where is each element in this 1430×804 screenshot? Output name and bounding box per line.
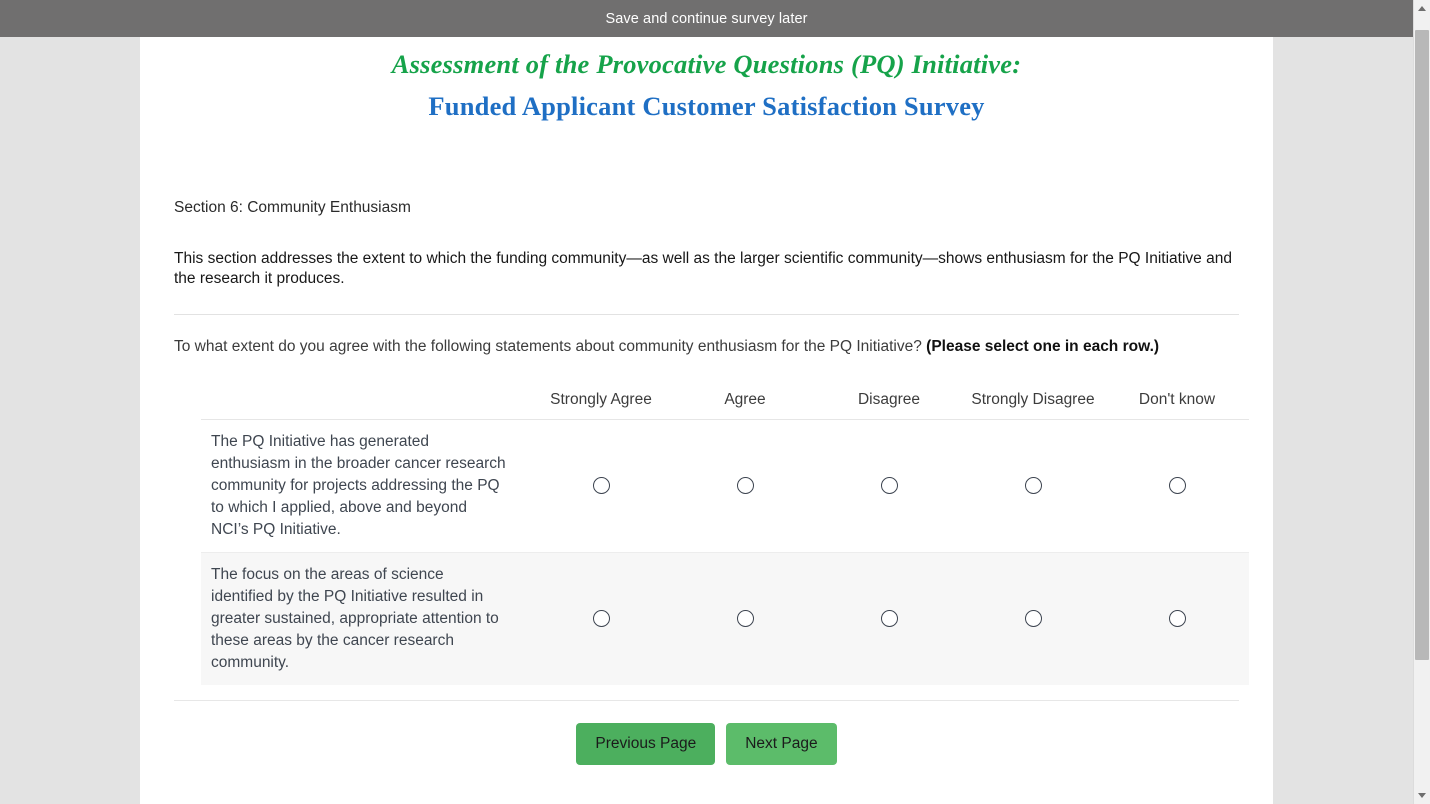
radio-row1-strongly-disagree[interactable] [1025, 477, 1042, 494]
matrix-cell-row1-dont-know[interactable] [1105, 419, 1249, 552]
question-prompt: To what extent do you agree with the fol… [174, 315, 1239, 357]
matrix-cell-row2-disagree[interactable] [817, 552, 961, 685]
matrix-question-table-wrapper: Strongly Agree Agree Disagree Strongly D… [174, 357, 1239, 685]
previous-page-button[interactable]: Previous Page [576, 723, 715, 765]
chevron-up-icon [1418, 6, 1426, 11]
survey-screen: Save and continue survey later Assessmen… [0, 0, 1430, 804]
radio-row2-strongly-agree[interactable] [593, 610, 610, 627]
radio-row2-disagree[interactable] [881, 610, 898, 627]
matrix-cell-row2-agree[interactable] [673, 552, 817, 685]
radio-row1-agree[interactable] [737, 477, 754, 494]
matrix-cell-row1-strongly-agree[interactable] [529, 419, 673, 552]
matrix-cell-row2-strongly-disagree[interactable] [961, 552, 1105, 685]
matrix-header-row: Strongly Agree Agree Disagree Strongly D… [201, 390, 1249, 419]
table-row: The focus on the areas of science identi… [201, 552, 1249, 685]
scroll-up-button[interactable] [1414, 0, 1430, 17]
matrix-row-statement-1: The PQ Initiative has generated enthusia… [201, 419, 529, 552]
radio-row2-strongly-disagree[interactable] [1025, 610, 1042, 627]
vertical-scrollbar[interactable] [1413, 0, 1430, 804]
matrix-column-header-strongly-agree: Strongly Agree [529, 390, 673, 419]
matrix-row-statement-2: The focus on the areas of science identi… [201, 552, 529, 685]
radio-row2-dont-know[interactable] [1169, 610, 1186, 627]
save-and-continue-label: Save and continue survey later [605, 11, 807, 27]
scrollbar-thumb[interactable] [1415, 30, 1429, 660]
matrix-cell-row2-dont-know[interactable] [1105, 552, 1249, 685]
scroll-down-button[interactable] [1414, 787, 1430, 804]
save-and-continue-bar[interactable]: Save and continue survey later [0, 0, 1413, 37]
radio-row1-strongly-agree[interactable] [593, 477, 610, 494]
next-page-button[interactable]: Next Page [726, 723, 836, 765]
question-instruction: (Please select one in each row.) [926, 338, 1159, 355]
matrix-column-header-disagree: Disagree [817, 390, 961, 419]
radio-row1-disagree[interactable] [881, 477, 898, 494]
section-intro-text: This section addresses the extent to whi… [174, 217, 1239, 290]
matrix-column-header-agree: Agree [673, 390, 817, 419]
survey-page: Assessment of the Provocative Questions … [140, 37, 1273, 804]
matrix-cell-row1-disagree[interactable] [817, 419, 961, 552]
matrix-cell-row2-strongly-agree[interactable] [529, 552, 673, 685]
section-heading: Section 6: Community Enthusiasm [174, 122, 1239, 217]
question-text: To what extent do you agree with the fol… [174, 338, 926, 355]
matrix-cell-row1-strongly-disagree[interactable] [961, 419, 1105, 552]
survey-title-line-2: Funded Applicant Customer Satisfaction S… [174, 80, 1239, 122]
pagination-buttons: Previous Page Next Page [174, 701, 1239, 765]
matrix-header-blank [201, 390, 529, 419]
survey-title-line-1: Assessment of the Provocative Questions … [174, 37, 1239, 80]
radio-row2-agree[interactable] [737, 610, 754, 627]
matrix-column-header-dont-know: Don't know [1105, 390, 1249, 419]
radio-row1-dont-know[interactable] [1169, 477, 1186, 494]
matrix-column-header-strongly-disagree: Strongly Disagree [961, 390, 1105, 419]
matrix-cell-row1-agree[interactable] [673, 419, 817, 552]
chevron-down-icon [1418, 793, 1426, 798]
table-row: The PQ Initiative has generated enthusia… [201, 419, 1249, 552]
matrix-question-table: Strongly Agree Agree Disagree Strongly D… [201, 390, 1249, 685]
